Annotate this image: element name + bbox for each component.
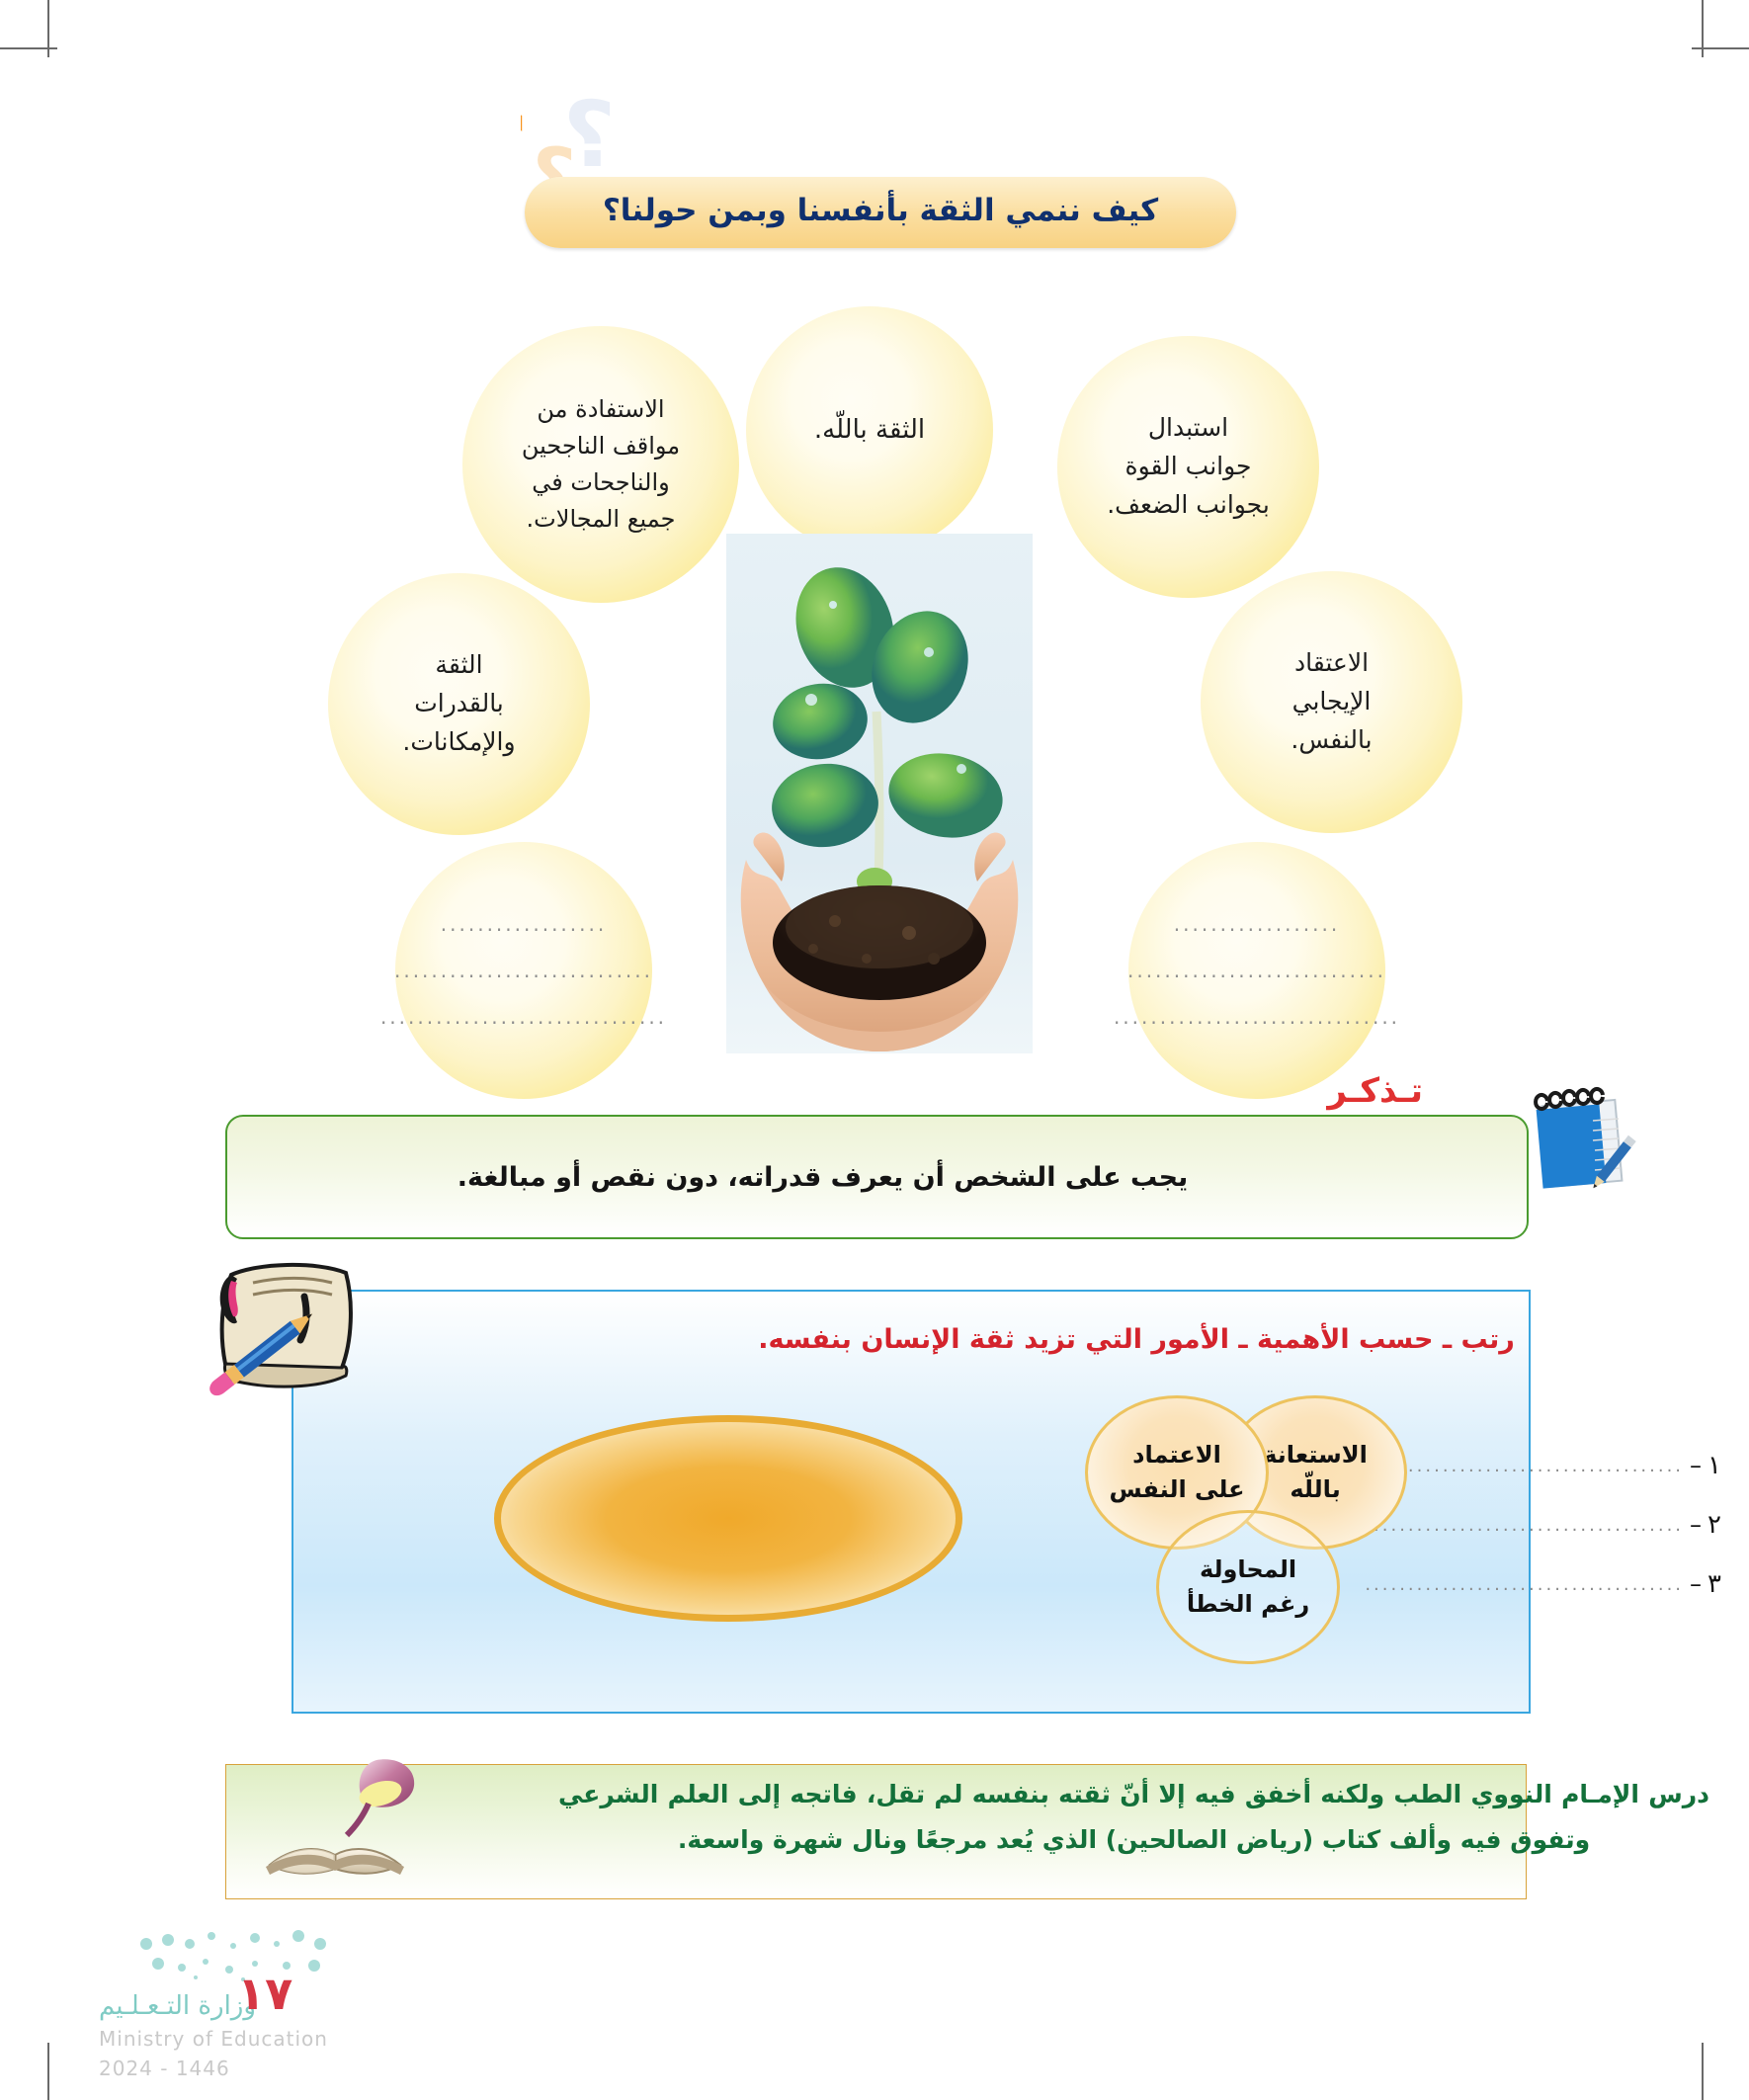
bubble-line: والإمكانات. [402,723,515,762]
page-number: ١٧ [237,1967,292,2020]
answer-number: ١ [1707,1451,1721,1480]
photo-bottom-fade [726,1053,1033,1077]
venn-line: باللّه [1290,1472,1340,1507]
bubble-line: بجوانب الضعف. [1107,486,1270,525]
bubble-line: الثقة [435,646,482,685]
bubble-blank-left[interactable]: .................. .....................… [395,842,652,1099]
page-header: ؟ ؟ ؟ كيف ننمي الثقة بأنفسنا وبمن حولنا؟ [521,71,1242,249]
bubble-line: استبدال [1148,409,1228,448]
remember-label: تـذكـر [1327,1071,1423,1111]
answer-line-3[interactable]: ٣ – ....................................… [1366,1569,1721,1599]
crop-mark-bottom-right [1702,2043,1704,2100]
bubble-line: جميع المجالات. [527,501,676,538]
venn-line: على النفس [1109,1472,1244,1507]
blank-dotted-line: ............................ [394,948,653,994]
answer-dots: ........................................… [1366,1456,1684,1476]
bubble-positive-self-belief: الاعتقاد الإيجابي بالنفس. [1201,571,1462,833]
venn-circle-trying-despite-mistakes: المحاولة رغم الخطأ [1156,1510,1340,1664]
venn-line: رغم الخطأ [1187,1587,1309,1622]
textbook-page: ؟ ؟ ؟ كيف ننمي الثقة بأنفسنا وبمن حولنا؟… [0,0,1749,2100]
bubble-trust-in-abilities: الثقة بالقدرات والإمكانات. [328,573,590,835]
seedling-photo [726,534,1033,1077]
answer-line-2[interactable]: ٢ – ....................................… [1366,1510,1721,1540]
bubble-line: جوانب القوة [1125,448,1252,486]
answer-dots: ........................................… [1366,1574,1684,1595]
venn-line: الاستعانة [1263,1438,1368,1472]
blank-dotted-line: ............................ [1127,948,1386,994]
page-title: كيف ننمي الثقة بأنفسنا وبمن حولنا؟ [525,177,1236,248]
answer-ellipse [494,1415,962,1622]
notebook-pencil-icon [198,1257,371,1405]
answer-number: ٢ [1707,1510,1721,1540]
answer-line-1[interactable]: ١ – ....................................… [1366,1451,1721,1480]
crop-mark-bottom-left [47,2043,49,2100]
bubble-line: الاستفادة من [537,391,664,428]
bubble-trust-in-allah: الثقة باللّه. [746,306,993,553]
bubble-benefit-from-successful: الاستفادة من مواقف الناجحين والناجحات في… [462,326,739,603]
bubble-line: الاعتقاد [1294,644,1369,683]
venn-line: المحاولة [1200,1553,1296,1587]
crop-mark-top-right-h [1692,47,1749,49]
crop-mark-top-left-h [0,47,57,49]
ministry-years: 2024 - 1446 [99,2057,230,2080]
bubble-line: الثقة باللّه. [814,410,925,450]
bubble-blank-right[interactable]: .................. .....................… [1128,842,1385,1099]
answer-dots: ........................................… [1366,1515,1684,1536]
bubble-line: الإيجابي [1292,683,1372,721]
blank-dotted-line: ............................... [380,994,667,1041]
answer-number: ٣ [1707,1569,1721,1599]
ministry-name-ar: وزارة التـعـلـيم [99,1991,256,2021]
info-text: درس الإمـام النووي الطب ولكنه أخفق فيه إ… [558,1772,1709,1864]
remember-box: يجب على الشخص أن يعرف قدراته، دون نقص أو… [225,1115,1529,1239]
remember-text: يجب على الشخص أن يعرف قدراته، دون نقص أو… [227,1117,1527,1237]
bubble-replace-strength-weakness: استبدال جوانب القوة بجوانب الضعف. [1057,336,1319,598]
bubble-line: مواقف الناجحين [522,428,680,464]
ministry-name-en: Ministry of Education [99,2027,328,2051]
venn-line: الاعتماد [1132,1438,1221,1472]
desk-lamp-open-book-icon [252,1754,420,1897]
bubble-line: بالقدرات [414,685,504,723]
blank-dotted-line: ............................... [1114,994,1400,1041]
page-title-bar: كيف ننمي الثقة بأنفسنا وبمن حولنا؟ [525,177,1236,248]
notepad-pencil-icon [1532,1081,1640,1200]
blank-dotted-line: .................. [1174,901,1340,948]
bubble-line: بالنفس. [1291,721,1372,760]
blank-dotted-line: .................. [441,901,607,948]
bubble-line: والناجحات في [532,464,669,501]
exercise-instruction: رتب ـ حسب الأهمية ـ الأمور التي تزيد ثقة… [563,1324,1709,1355]
